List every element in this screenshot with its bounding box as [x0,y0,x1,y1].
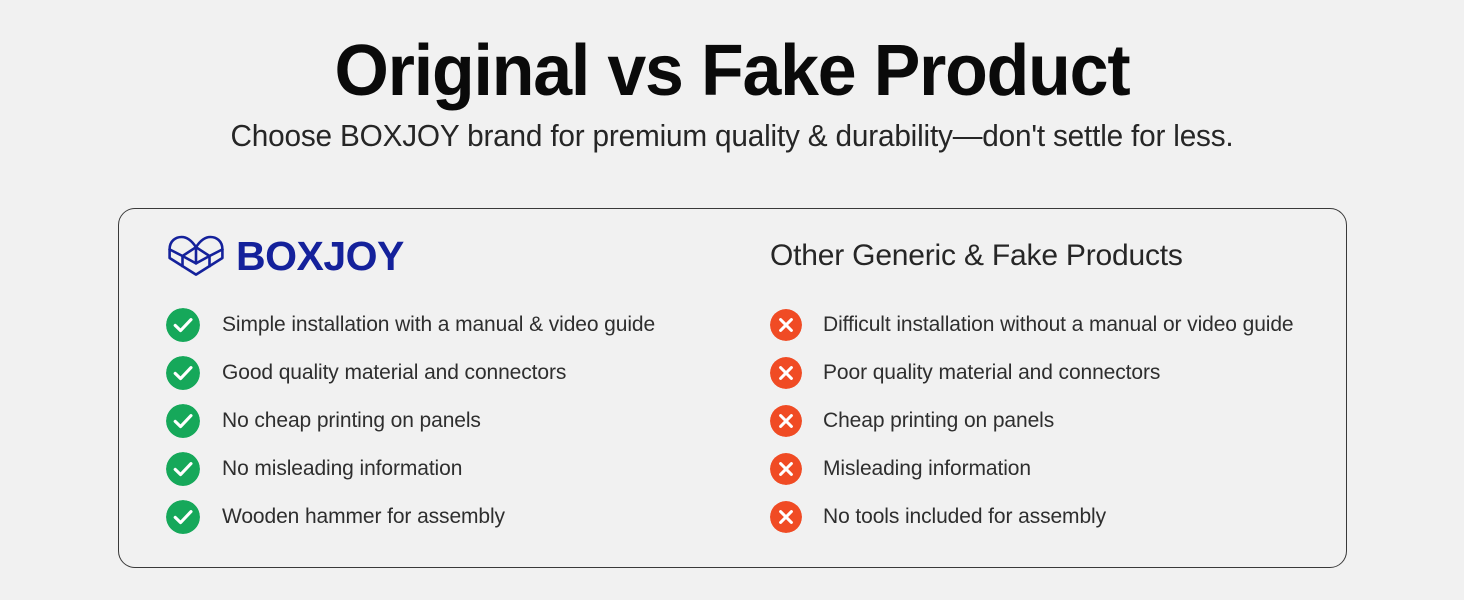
list-item: Cheap printing on panels [770,397,1346,445]
list-item-label: Good quality material and connectors [222,360,566,386]
banner-header: Original vs Fake Product Choose BOXJOY b… [0,0,1464,156]
check-circle-icon [166,452,200,486]
page-subtitle: Choose BOXJOY brand for premium quality … [29,116,1434,156]
list-item-label: No cheap printing on panels [222,408,481,434]
check-circle-icon [166,356,200,390]
list-item-label: Misleading information [823,456,1031,482]
check-circle-icon [166,404,200,438]
list-item-label: Cheap printing on panels [823,408,1054,434]
comparison-banner: Original vs Fake Product Choose BOXJOY b… [0,0,1464,600]
comparison-card: BOXJOY Simple installation with a manual… [118,208,1347,568]
list-item: No tools included for assembly [770,493,1346,541]
list-item: No cheap printing on panels [166,397,728,445]
check-circle-icon [166,308,200,342]
x-circle-icon [770,453,802,485]
x-circle-icon [770,405,802,437]
list-item: Simple installation with a manual & vide… [166,301,728,349]
list-item-label: Simple installation with a manual & vide… [222,312,655,338]
boxjoy-brand-lockup: BOXJOY [166,231,728,281]
generic-column-heading: Other Generic & Fake Products [770,231,1346,281]
x-circle-icon [770,309,802,341]
list-item: Poor quality material and connectors [770,349,1346,397]
list-item-label: Poor quality material and connectors [823,360,1160,386]
list-item-label: Difficult installation without a manual … [823,312,1293,338]
x-circle-icon [770,501,802,533]
page-title: Original vs Fake Product [22,30,1442,112]
boxjoy-feature-list: Simple installation with a manual & vide… [166,301,728,541]
column-generic: Other Generic & Fake Products Difficult … [728,231,1346,567]
list-item-label: Wooden hammer for assembly [222,504,505,530]
x-circle-icon [770,357,802,389]
list-item: Good quality material and connectors [166,349,728,397]
column-boxjoy: BOXJOY Simple installation with a manual… [119,231,728,567]
list-item-label: No misleading information [222,456,462,482]
boxjoy-wordmark: BOXJOY [236,236,404,277]
comparison-columns: BOXJOY Simple installation with a manual… [119,209,1346,567]
list-item: Wooden hammer for assembly [166,493,728,541]
list-item: Misleading information [770,445,1346,493]
list-item-label: No tools included for assembly [823,504,1106,530]
list-item: Difficult installation without a manual … [770,301,1346,349]
list-item: No misleading information [166,445,728,493]
generic-feature-list: Difficult installation without a manual … [770,301,1346,541]
check-circle-icon [166,500,200,534]
boxjoy-heart-cubes-icon [166,235,226,277]
